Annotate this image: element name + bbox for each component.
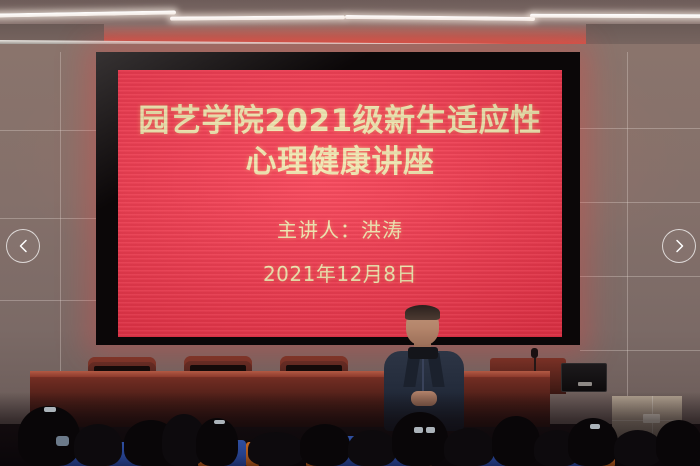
- wall-panel-seam: [0, 130, 96, 131]
- audience-head: [18, 406, 80, 466]
- hair-clip: [214, 420, 225, 424]
- audience-head: [300, 424, 350, 466]
- wall-panel-seam: [60, 52, 61, 372]
- laptop-label: [578, 382, 592, 386]
- laptop: [561, 363, 607, 392]
- audience-head: [656, 420, 700, 466]
- presentation-screen: 园艺学院2021级新生适应性 心理健康讲座 主讲人：洪涛 2021年12月8日: [118, 70, 562, 337]
- wall-panel-seam: [0, 300, 96, 301]
- wall-panel-seam: [0, 218, 96, 219]
- slide-presenter: 主讲人：洪涛: [277, 217, 403, 243]
- speaker-collar: [408, 347, 438, 359]
- audience-head: [248, 432, 304, 466]
- microphone-head: [531, 348, 538, 358]
- slide-title-line-1: 园艺学院2021级新生适应性: [138, 103, 541, 139]
- chevron-left-icon: [18, 239, 29, 253]
- hair-clip: [44, 407, 56, 412]
- audience-head: [614, 430, 662, 466]
- wall-panel-seam: [580, 276, 700, 277]
- photo-viewer: 园艺学院2021级新生适应性 心理健康讲座 主讲人：洪涛 2021年12月8日: [0, 0, 700, 466]
- prev-image-button[interactable]: [6, 229, 40, 263]
- wall-panel-seam: [580, 202, 700, 203]
- hair-clip: [414, 427, 423, 433]
- next-image-button[interactable]: [662, 229, 696, 263]
- wall-panel-seam: [580, 350, 700, 351]
- wall-panel-seam: [580, 128, 700, 129]
- chevron-right-icon: [674, 239, 685, 253]
- speaker-hair: [405, 305, 440, 320]
- audience-head: [74, 424, 122, 466]
- wall-panel-seam: [627, 52, 628, 424]
- audience-head: [492, 416, 540, 466]
- slide-date: 2021年12月8日: [263, 261, 417, 287]
- slide-content: 园艺学院2021级新生适应性 心理健康讲座 主讲人：洪涛 2021年12月8日: [118, 70, 562, 337]
- slide-title-line-2: 心理健康讲座: [138, 142, 541, 183]
- audience-head: [196, 418, 238, 466]
- audience-head: [444, 428, 494, 466]
- stage-table-edge: [30, 371, 550, 377]
- audience-head: [348, 430, 396, 466]
- face-mask: [56, 436, 69, 446]
- audience-head: [392, 412, 448, 466]
- hair-clip: [426, 427, 435, 433]
- ceiling-led-strip: [530, 14, 700, 19]
- slide-title: 园艺学院2021级新生适应性 心理健康讲座: [138, 101, 541, 183]
- hair-clip: [590, 424, 600, 429]
